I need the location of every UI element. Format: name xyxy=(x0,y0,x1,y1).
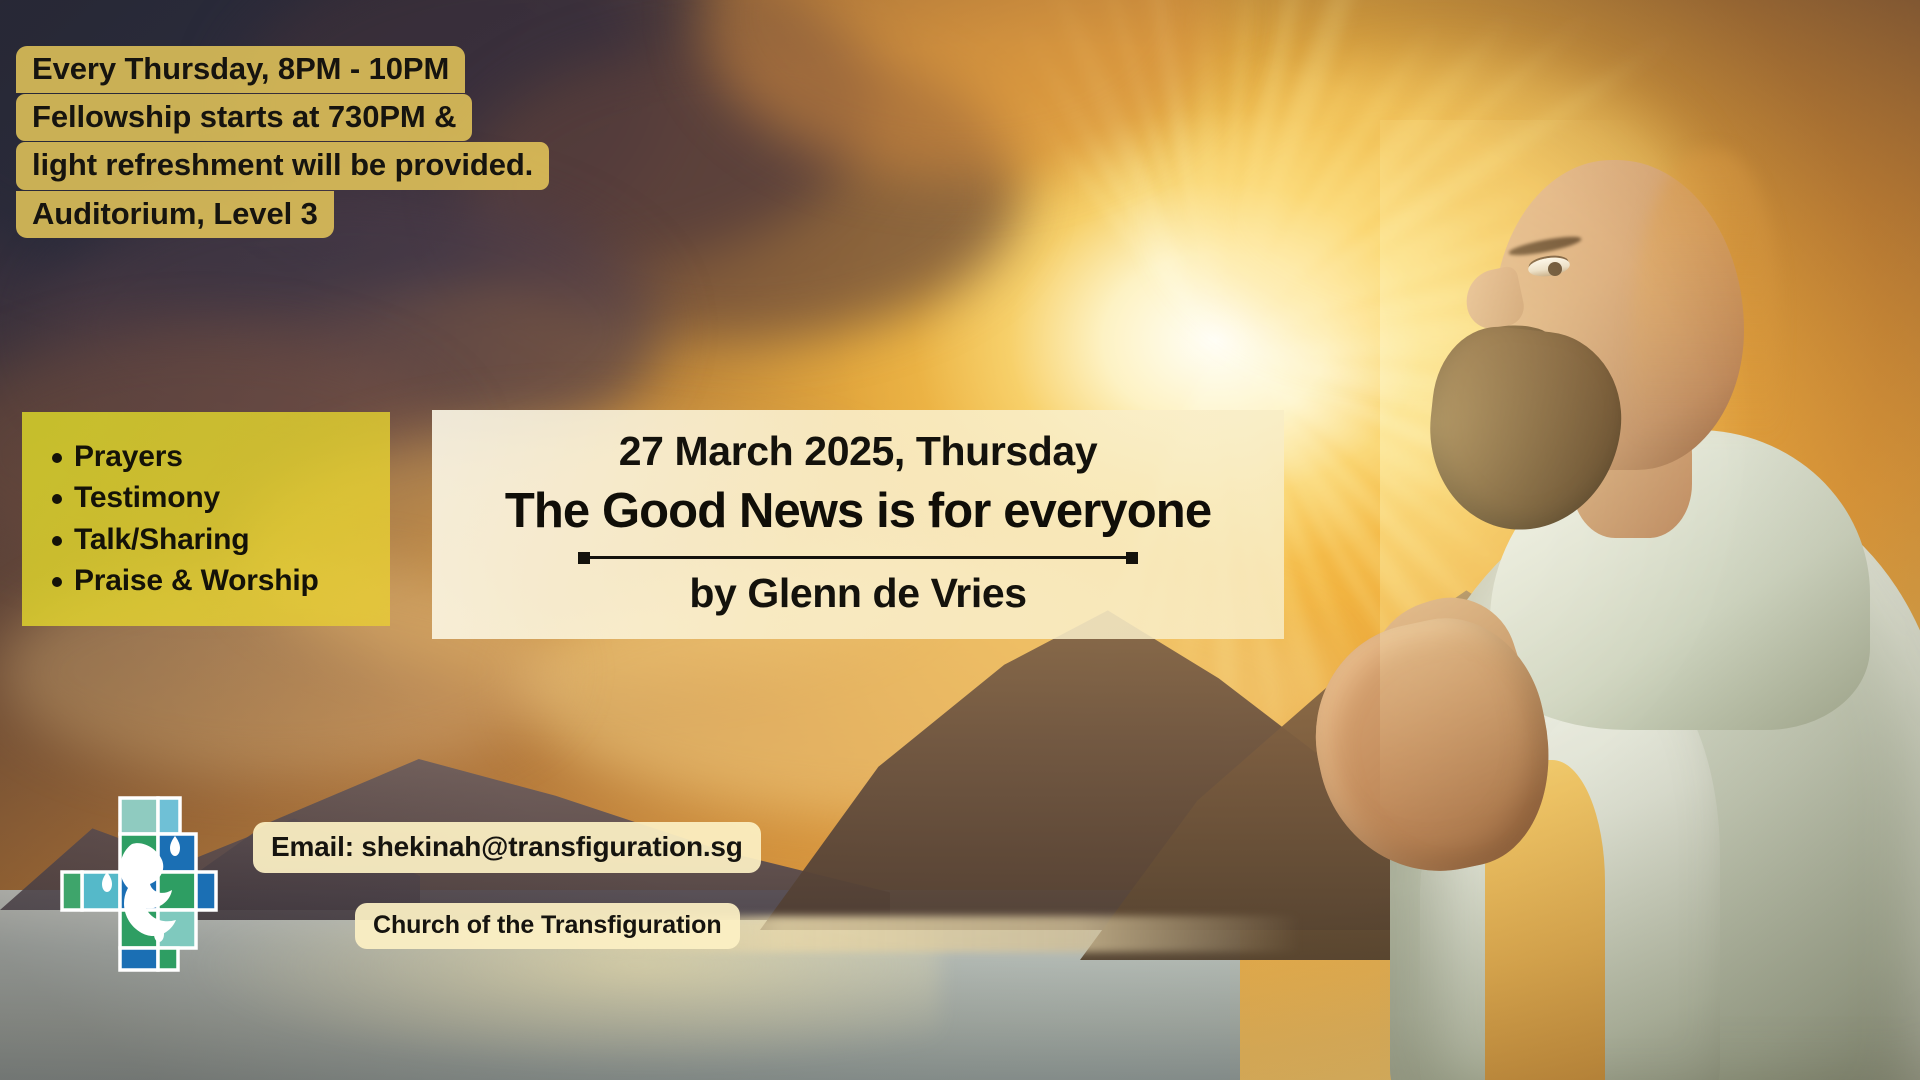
schedule-block: Every Thursday, 8PM - 10PM Fellowship st… xyxy=(16,46,549,239)
church-cross-dove-logo xyxy=(58,792,218,972)
event-title: The Good News is for everyone xyxy=(458,482,1258,541)
program-list-block: Prayers Testimony Talk/Sharing Praise & … xyxy=(22,412,390,626)
main-banner: 27 March 2025, Thursday The Good News is… xyxy=(432,410,1284,639)
event-poster: Every Thursday, 8PM - 10PM Fellowship st… xyxy=(0,0,1920,1080)
schedule-line: Auditorium, Level 3 xyxy=(16,191,334,238)
divider-cap-right xyxy=(1126,552,1138,564)
schedule-line: Fellowship starts at 730PM & xyxy=(16,94,472,141)
event-speaker: by Glenn de Vries xyxy=(458,568,1258,619)
divider-bar xyxy=(590,556,1126,559)
organization-label: Church of the Transfiguration xyxy=(355,903,740,949)
email-label: Email: shekinah@transfiguration.sg xyxy=(253,822,761,873)
schedule-line: Every Thursday, 8PM - 10PM xyxy=(16,46,465,93)
mountain xyxy=(130,690,890,920)
list-item: Testimony xyxy=(74,477,376,518)
pupil xyxy=(1548,262,1562,276)
program-list: Prayers Testimony Talk/Sharing Praise & … xyxy=(48,436,376,602)
title-divider xyxy=(578,552,1138,562)
divider-cap-left xyxy=(578,552,590,564)
hair-highlight xyxy=(1630,150,1780,570)
praying-figure xyxy=(1360,0,1920,1080)
list-item: Prayers xyxy=(74,436,376,477)
list-item: Praise & Worship xyxy=(74,560,376,601)
event-date: 27 March 2025, Thursday xyxy=(458,426,1258,476)
list-item: Talk/Sharing xyxy=(74,519,376,560)
schedule-line: light refreshment will be provided. xyxy=(16,142,549,189)
